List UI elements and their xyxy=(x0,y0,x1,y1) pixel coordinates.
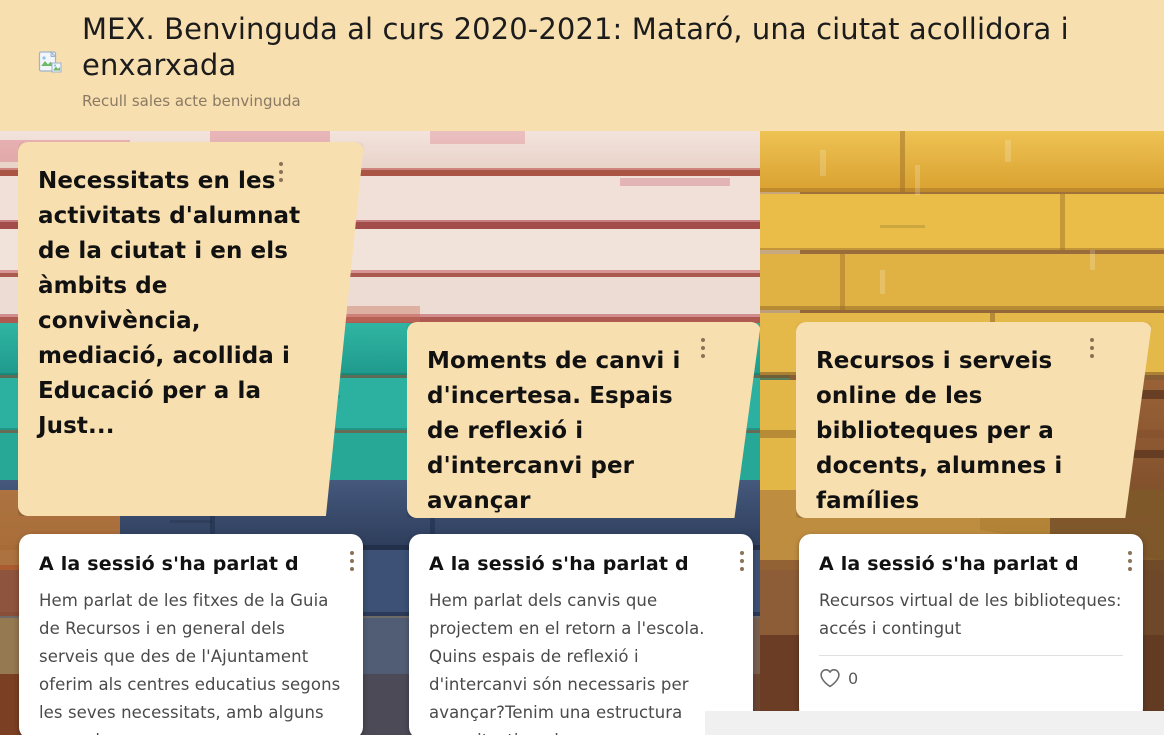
post-card-body: Hem parlat dels canvis que projectem en … xyxy=(429,587,733,735)
kebab-dot-icon xyxy=(279,170,283,174)
kebab-dot-icon xyxy=(279,162,283,166)
post-card-title: A la sessió s'ha parlat de: xyxy=(429,552,687,576)
post-card[interactable]: A la sessió s'ha parlat de: Hem parlat d… xyxy=(19,534,363,735)
kebab-dot-icon xyxy=(740,559,744,563)
section-card-title: Moments de canvi i d'incertesa. Espais d… xyxy=(427,344,703,519)
broken-image-icon xyxy=(38,50,62,74)
post-card-body: Hem parlat de les fitxes de la Guia de R… xyxy=(39,587,343,735)
post-card-body: Recursos virtual de les biblioteques: ac… xyxy=(819,587,1123,643)
kebab-dot-icon xyxy=(1128,559,1132,563)
post-card-menu-button[interactable] xyxy=(343,549,361,573)
page-subtitle: Recull sales acte benvinguda xyxy=(82,92,1122,110)
header-text-block: MEX. Benvinguda al curs 2020-2021: Matar… xyxy=(82,11,1122,110)
kebab-dot-icon xyxy=(350,559,354,563)
board-header: MEX. Benvinguda al curs 2020-2021: Matar… xyxy=(0,0,1164,131)
section-card-title: Necessitats en les activitats d'alumnat … xyxy=(38,164,306,444)
kebab-dot-icon xyxy=(1090,346,1094,350)
section-card-menu-button[interactable] xyxy=(272,160,290,184)
kebab-dot-icon xyxy=(1090,338,1094,342)
post-card-menu-button[interactable] xyxy=(733,549,751,573)
page-title: MEX. Benvinguda al curs 2020-2021: Matar… xyxy=(82,11,1122,83)
bottom-gray-panel xyxy=(705,711,1164,735)
padlet-board: MEX. Benvinguda al curs 2020-2021: Matar… xyxy=(0,0,1164,735)
kebab-dot-icon xyxy=(1090,354,1094,358)
kebab-dot-icon xyxy=(740,551,744,555)
heart-outline-icon[interactable] xyxy=(819,668,841,688)
post-card[interactable]: A la sessió s'ha parlat de: Recursos vir… xyxy=(799,534,1143,718)
kebab-dot-icon xyxy=(1128,551,1132,555)
post-card[interactable]: A la sessió s'ha parlat de: Hem parlat d… xyxy=(409,534,753,735)
post-card-title: A la sessió s'ha parlat de: xyxy=(819,552,1077,576)
section-card-menu-button[interactable] xyxy=(1083,336,1101,360)
kebab-dot-icon xyxy=(701,354,705,358)
post-card-menu-button[interactable] xyxy=(1121,549,1139,573)
post-card-divider xyxy=(819,655,1123,656)
kebab-dot-icon xyxy=(350,567,354,571)
section-card-title: Recursos i serveis online de les bibliot… xyxy=(816,344,1094,519)
section-card-body: Necessitats en les activitats d'alumnat … xyxy=(18,142,364,460)
kebab-dot-icon xyxy=(740,567,744,571)
kebab-dot-icon xyxy=(1128,567,1132,571)
kebab-dot-icon xyxy=(701,346,705,350)
like-count: 0 xyxy=(848,669,858,688)
kebab-dot-icon xyxy=(701,338,705,342)
post-card-actions: 0 xyxy=(819,668,1123,688)
section-card[interactable]: Necessitats en les activitats d'alumnat … xyxy=(18,142,364,516)
kebab-dot-icon xyxy=(279,178,283,182)
section-card-menu-button[interactable] xyxy=(694,336,712,360)
post-card-title: A la sessió s'ha parlat de: xyxy=(39,552,297,576)
kebab-dot-icon xyxy=(350,551,354,555)
